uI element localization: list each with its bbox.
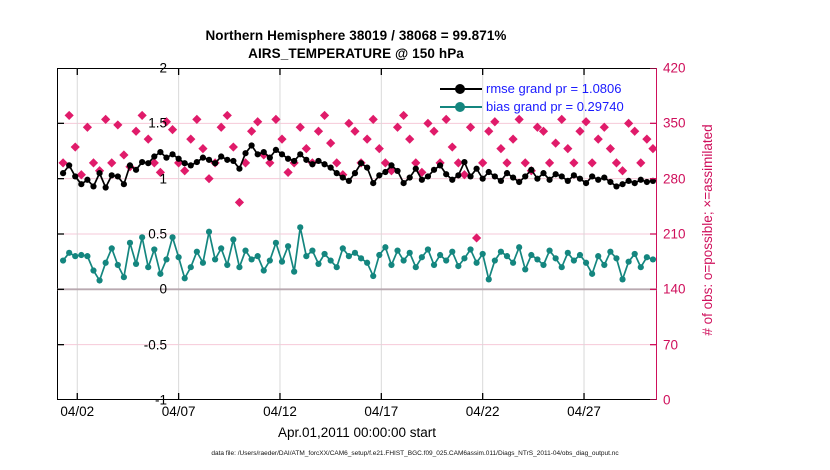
bias-series-marker (188, 264, 194, 270)
rmse-series-marker (565, 178, 571, 184)
chart-legend: rmse grand pr = 1.0806 bias grand pr = 0… (438, 80, 660, 116)
rmse-series-marker (407, 174, 413, 180)
rmse-series-marker (455, 172, 461, 178)
bias-series-marker (200, 260, 206, 266)
bias-series-marker (224, 262, 230, 268)
bias-series-marker (236, 264, 242, 270)
obs-marker-diamond (344, 119, 353, 128)
obs-marker-diamond (138, 111, 147, 120)
obs-marker-diamond (283, 168, 292, 177)
y-axis-tick-left: 1.5 (148, 116, 167, 131)
obs-marker-diamond (83, 123, 92, 132)
bias-series-marker (413, 264, 419, 270)
rmse-series-marker (303, 157, 309, 163)
bias-series-marker (619, 276, 625, 282)
bias-series-marker (613, 255, 619, 261)
obs-marker-diamond (624, 119, 633, 128)
y-axis-tick-right: 280 (663, 171, 686, 186)
bias-series-marker (522, 266, 528, 272)
obs-marker-diamond (314, 127, 323, 136)
obs-marker-diamond (563, 144, 572, 153)
bias-series-marker (565, 250, 571, 256)
obs-marker-diamond (119, 150, 128, 159)
bias-series-marker (352, 250, 358, 256)
bias-series-marker (431, 262, 437, 268)
bias-series-marker (109, 245, 115, 251)
rmse-series-marker (504, 170, 510, 176)
x-axis-label: Apr.01,2011 00:00:00 start (57, 425, 657, 440)
obs-marker-diamond (508, 135, 517, 144)
bias-series-marker (340, 245, 346, 251)
obs-marker-diamond (502, 158, 511, 167)
legend-label-rmse: rmse grand pr = 1.0806 (486, 80, 622, 98)
rmse-series-marker (194, 159, 200, 165)
bias-series-marker (60, 257, 66, 263)
rmse-series-marker (176, 156, 182, 162)
bias-series-marker (297, 224, 303, 230)
obs-marker-diamond (302, 144, 311, 153)
legend-marker-rmse (455, 84, 465, 94)
obs-marker-diamond (399, 111, 408, 120)
obs-marker-diamond (235, 198, 244, 207)
rmse-series-marker (626, 178, 632, 184)
rmse-series-marker (346, 178, 352, 184)
obs-marker-diamond (113, 120, 122, 129)
bias-series-marker (121, 274, 127, 280)
bias-series-marker (498, 249, 504, 255)
y-axis-tick-right: 0 (663, 393, 671, 408)
obs-marker-diamond (496, 144, 505, 153)
obs-marker-diamond (217, 123, 226, 132)
bias-series-marker (334, 264, 340, 270)
bias-series-marker (321, 251, 327, 257)
bias-series-marker (516, 244, 522, 250)
chart-page: Northern Hemisphere 38019 / 38068 = 99.8… (0, 0, 830, 470)
rmse-series-marker (632, 180, 638, 186)
rmse-series-marker (109, 172, 115, 178)
rmse-series-marker (334, 170, 340, 176)
rmse-series-marker (151, 153, 157, 159)
bias-series-marker (346, 253, 352, 259)
rmse-series-marker (528, 167, 534, 173)
obs-marker-diamond (429, 127, 438, 136)
y-axis-tick-left: 0.5 (148, 227, 167, 242)
bias-series-marker (72, 253, 78, 259)
bias-series-marker (437, 252, 443, 258)
obs-marker-diamond (247, 127, 256, 136)
bias-series-marker (455, 263, 461, 269)
rmse-series-marker (133, 167, 139, 173)
rmse-series-marker (437, 162, 443, 168)
bias-series-marker (267, 257, 273, 263)
rmse-series-marker (212, 160, 218, 166)
bias-series-marker (248, 256, 254, 262)
bias-series-marker (242, 248, 248, 254)
rmse-series-marker (84, 177, 90, 183)
y-axis-tick-right: 210 (663, 227, 686, 242)
rmse-series-marker (425, 173, 431, 179)
bias-series-marker (315, 261, 321, 267)
bias-series-marker (182, 275, 188, 281)
bias-series-marker (589, 271, 595, 277)
bias-series-marker (370, 273, 376, 279)
y-axis-tick-left: -0.5 (144, 337, 167, 352)
bias-series-marker (230, 236, 236, 242)
rmse-series-marker (613, 183, 619, 189)
bias-series-marker (595, 253, 601, 259)
y-axis-tick-right: 350 (663, 116, 686, 131)
obs-marker-diamond (466, 123, 475, 132)
bias-series-marker (492, 257, 498, 263)
rmse-series-marker (224, 157, 230, 163)
obs-marker-diamond (551, 138, 560, 147)
rmse-series-marker (516, 179, 522, 185)
bias-series-marker (644, 254, 650, 260)
bias-series-marker (425, 246, 431, 252)
bias-series-marker (328, 257, 334, 263)
bias-series-marker (212, 256, 218, 262)
bias-series-marker (638, 264, 644, 270)
obs-marker-diamond (186, 135, 195, 144)
legend-entry-bias: bias grand pr = 0.29740 (438, 98, 660, 116)
obs-marker-diamond (180, 166, 189, 175)
obs-marker-diamond (588, 158, 597, 167)
rmse-series-marker (443, 171, 449, 177)
rmse-series-marker (553, 171, 559, 177)
rmse-series-marker (255, 151, 261, 157)
obs-marker-diamond (271, 115, 280, 124)
rmse-series-marker (571, 172, 577, 178)
rmse-series-marker (473, 166, 479, 172)
rmse-series-marker (583, 180, 589, 186)
bias-series-marker (419, 254, 425, 260)
rmse-series-marker (309, 161, 315, 167)
rmse-series-marker (449, 177, 455, 183)
bias-series-marker (145, 264, 151, 270)
rmse-series-marker (145, 160, 151, 166)
rmse-series-marker (206, 157, 212, 163)
rmse-series-marker (103, 184, 109, 190)
rmse-series-marker (139, 159, 145, 165)
bias-series-marker (449, 249, 455, 255)
bias-series-marker (285, 243, 291, 249)
bias-series-marker (139, 234, 145, 240)
rmse-series-marker (96, 170, 102, 176)
rmse-series-marker (607, 179, 613, 185)
rmse-series-marker (200, 155, 206, 161)
rmse-series-marker (285, 156, 291, 162)
page-title: Northern Hemisphere 38019 / 38068 = 99.8… (0, 27, 712, 45)
bias-series-marker (194, 249, 200, 255)
rmse-series-marker (401, 180, 407, 186)
bias-series-marker (261, 267, 267, 273)
obs-marker-diamond (484, 127, 493, 136)
rmse-series-marker (498, 178, 504, 184)
bias-series-marker (577, 252, 583, 258)
bias-series-marker (376, 252, 382, 258)
bias-series-marker (303, 253, 309, 259)
rmse-series-marker (413, 166, 419, 172)
obs-marker-diamond (472, 233, 481, 242)
rmse-series-marker (540, 170, 546, 176)
bias-series-marker (133, 261, 139, 267)
obs-marker-diamond (423, 119, 432, 128)
rmse-series-line (63, 145, 653, 187)
obs-marker-diamond (320, 111, 329, 120)
rmse-series-marker (352, 170, 358, 176)
y-axis-tick-left: 1 (159, 171, 167, 186)
rmse-series-marker (242, 150, 248, 156)
bias-series-marker (157, 271, 163, 277)
obs-marker-diamond (101, 115, 110, 124)
obs-marker-diamond (77, 170, 86, 179)
obs-marker-diamond (600, 123, 609, 132)
x-axis-tick: 04/17 (364, 404, 398, 419)
obs-marker-diamond (442, 115, 451, 124)
bias-series-marker (407, 250, 413, 256)
legend-entry-rmse: rmse grand pr = 1.0806 (438, 80, 660, 98)
bias-series-marker (364, 260, 370, 266)
obs-marker-diamond (393, 123, 402, 132)
rmse-series-marker (279, 151, 285, 157)
bias-series-marker (84, 253, 90, 259)
obs-marker-diamond (642, 135, 651, 144)
obs-marker-diamond (71, 142, 80, 151)
bias-series-marker (553, 255, 559, 261)
rmse-series-marker (388, 162, 394, 168)
obs-marker-diamond (515, 115, 524, 124)
rmse-series-marker (546, 177, 552, 183)
rmse-series-marker (115, 173, 121, 179)
obs-marker-diamond (630, 127, 639, 136)
rmse-series-marker (486, 169, 492, 175)
obs-marker-diamond (198, 144, 207, 153)
rmse-series-marker (419, 177, 425, 183)
bias-series-marker (273, 240, 279, 246)
rmse-series-marker (364, 165, 370, 171)
rmse-series-marker (60, 170, 66, 176)
bias-series-marker (601, 262, 607, 268)
rmse-series-marker (644, 179, 650, 185)
obs-marker-diamond (332, 158, 341, 167)
rmse-series-marker (534, 176, 540, 182)
rmse-series-marker (601, 174, 607, 180)
rmse-series-marker (431, 167, 437, 173)
obs-marker-diamond (448, 142, 457, 151)
obs-marker-diamond (229, 142, 238, 151)
rmse-series-marker (291, 158, 297, 164)
rmse-series-marker (127, 162, 133, 168)
bias-series-marker (382, 244, 388, 250)
rmse-series-marker (559, 173, 565, 179)
bias-series-marker (163, 256, 169, 262)
bias-series-marker (151, 246, 157, 252)
bias-series-marker (96, 277, 102, 283)
obs-marker-diamond (612, 158, 621, 167)
rmse-series-marker (619, 181, 625, 187)
y-axis-tick-left: 2 (159, 61, 167, 76)
rmse-series-marker (72, 173, 78, 179)
rmse-series-marker (90, 183, 96, 189)
bias-series-marker (66, 250, 72, 256)
bias-series-marker (115, 262, 121, 268)
bias-series-marker (467, 246, 473, 252)
bias-series-marker (279, 259, 285, 265)
bias-series-marker (540, 262, 546, 268)
rmse-series-marker (182, 160, 188, 166)
rmse-series-marker (218, 153, 224, 159)
bias-series-marker (169, 234, 175, 240)
bias-series-marker (401, 257, 407, 263)
obs-marker-diamond (636, 158, 645, 167)
bias-series-marker (504, 253, 510, 259)
rmse-series-marker (328, 165, 334, 171)
rmse-series-marker (467, 173, 473, 179)
rmse-series-marker (394, 168, 400, 174)
bias-series-marker (358, 255, 364, 261)
bias-series-marker (650, 256, 656, 262)
rmse-series-marker (321, 161, 327, 167)
rmse-series-marker (595, 177, 601, 183)
bias-series-marker (632, 251, 638, 257)
y-axis-tick-right: 70 (663, 337, 678, 352)
obs-marker-diamond (618, 166, 627, 175)
bias-series-marker (388, 262, 394, 268)
x-axis-tick: 04/07 (162, 404, 196, 419)
bias-series-marker (486, 276, 492, 282)
bias-series-marker (626, 259, 632, 265)
bias-series-marker (510, 260, 516, 266)
rmse-series-marker (638, 177, 644, 183)
chart-subtitle: AIRS_TEMPERATURE @ 150 hPa (0, 45, 712, 63)
obs-marker-diamond (369, 115, 378, 124)
bias-series-marker (480, 251, 486, 257)
obs-marker-diamond (168, 125, 177, 134)
obs-marker-diamond (223, 111, 232, 120)
bias-series-marker (103, 260, 109, 266)
obs-marker-diamond (253, 117, 262, 126)
bias-series-marker (443, 257, 449, 263)
x-axis-tick: 04/22 (466, 404, 500, 419)
obs-marker-diamond (144, 135, 153, 144)
y-axis-tick-right: 140 (663, 282, 686, 297)
rmse-series-marker (358, 160, 364, 166)
obs-marker-diamond (204, 174, 213, 183)
bias-series-marker (607, 249, 613, 255)
obs-marker-diamond (131, 127, 140, 136)
rmse-series-marker (492, 173, 498, 179)
obs-marker-diamond (375, 144, 384, 153)
obs-marker-diamond (350, 127, 359, 136)
obs-marker-diamond (648, 144, 657, 153)
obs-marker-diamond (107, 158, 116, 167)
bias-series-marker (394, 248, 400, 254)
bias-series-marker (534, 256, 540, 262)
y-axis-tick-left: 0 (159, 282, 167, 297)
obs-marker-diamond (192, 115, 201, 124)
bias-series-marker (78, 252, 84, 258)
bias-series-marker (218, 245, 224, 251)
bias-series-marker (473, 260, 479, 266)
obs-marker-diamond (545, 158, 554, 167)
rmse-series-marker (267, 155, 273, 161)
rmse-series-marker (261, 149, 267, 155)
rmse-series-marker (236, 166, 242, 172)
data-file-footer: data file: /Users/raeder/DAI/ATM_forcXX/… (0, 450, 830, 457)
obs-marker-diamond (277, 135, 286, 144)
rmse-series-marker (188, 162, 194, 168)
bias-series-marker (90, 267, 96, 273)
obs-marker-diamond (405, 135, 414, 144)
bias-series-marker (176, 254, 182, 260)
rmse-series-marker (340, 174, 346, 180)
x-axis-tick: 04/27 (567, 404, 601, 419)
rmse-series-marker (78, 181, 84, 187)
rmse-series-marker (480, 176, 486, 182)
obs-marker-diamond (581, 117, 590, 126)
obs-marker-diamond (326, 138, 335, 147)
rmse-series-marker (297, 151, 303, 157)
rmse-series-marker (169, 151, 175, 157)
bias-series-marker (309, 248, 315, 254)
rmse-series-marker (157, 149, 163, 155)
rmse-series-marker (66, 162, 72, 168)
obs-marker-diamond (569, 158, 578, 167)
obs-marker-diamond (575, 127, 584, 136)
obs-marker-diamond (521, 158, 530, 167)
rmse-series-marker (522, 173, 528, 179)
bias-series-marker (206, 229, 212, 235)
chart-title-block: Northern Hemisphere 38019 / 38068 = 99.8… (0, 27, 712, 63)
rmse-series-marker (121, 181, 127, 187)
bias-series-marker (461, 255, 467, 261)
obs-marker-diamond (89, 158, 98, 167)
rmse-series-marker (273, 147, 279, 153)
rmse-series-marker (510, 174, 516, 180)
bias-series-marker (127, 240, 133, 246)
rmse-series-marker (370, 180, 376, 186)
obs-marker-diamond (478, 158, 487, 167)
rmse-series-marker (315, 158, 321, 164)
obs-marker-diamond (606, 144, 615, 153)
rmse-series-marker (163, 155, 169, 161)
obs-marker-diamond (65, 111, 74, 120)
obs-marker-diamond (594, 135, 603, 144)
bias-series-marker (583, 260, 589, 266)
obs-marker-diamond (557, 115, 566, 124)
legend-label-bias: bias grand pr = 0.29740 (486, 98, 624, 116)
y-axis-tick-right: 420 (663, 61, 686, 76)
bias-series-marker (528, 252, 534, 258)
obs-marker-diamond (296, 123, 305, 132)
bias-series-marker (291, 269, 297, 275)
rmse-series-marker (461, 159, 467, 165)
bias-series-marker (255, 253, 261, 259)
rmse-series-marker (577, 176, 583, 182)
rmse-series-marker (382, 169, 388, 175)
obs-marker-diamond (363, 135, 372, 144)
x-axis-tick: 04/02 (60, 404, 94, 419)
x-axis-tick: 04/12 (263, 404, 297, 419)
rmse-series-marker (230, 158, 236, 164)
bias-series-marker (559, 264, 565, 270)
bias-series-marker (546, 248, 552, 254)
obs-marker-diamond (490, 117, 499, 126)
y-axis-label-right: # of obs: o=possible; ×=assimilated (700, 60, 715, 400)
rmse-series-marker (589, 173, 595, 179)
rmse-series-marker (376, 172, 382, 178)
bias-series-marker (571, 257, 577, 263)
